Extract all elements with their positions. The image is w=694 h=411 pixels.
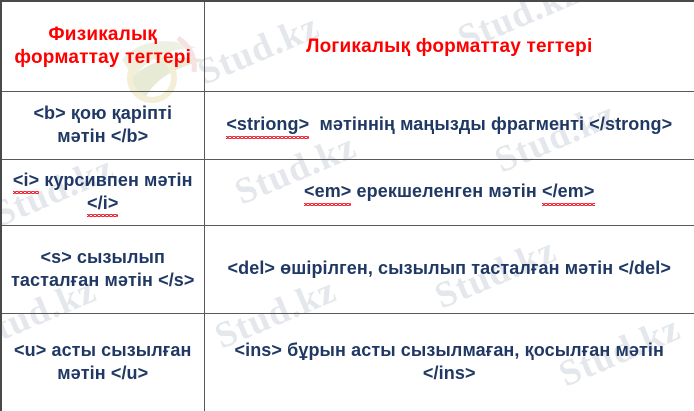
tag-close-u: </u> [111,363,148,383]
tag-close-b: </b> [111,126,148,146]
table-row: <b> қою қаріпті мәтін </b> <striong> мәт… [1,91,694,159]
tag-desc-s: сызылып тасталған мәтін [11,247,165,290]
cell-physical-i: <i> курсивпен мәтін </i> [1,159,204,225]
tag-open-em: <em> [304,180,351,203]
header-physical-tags: Физикалық форматтау тегтері [1,1,204,91]
tag-open-i: <i> [13,169,39,192]
tag-open-strong-misspelled: <striong> [226,113,309,136]
tag-desc-ins: бұрын асты сызылмаған, қосылған мәтін [287,340,664,360]
tag-open-del: <del> [228,258,276,278]
cell-logical-del: <del> өшірілген, сызылып тасталған мәтін… [204,225,694,313]
cell-physical-b: <b> қою қаріпті мәтін </b> [1,91,204,159]
tag-close-em: </em> [542,180,595,203]
tag-open-u: <u> [14,340,46,360]
tag-open-s: <s> [40,247,71,267]
tag-close-i: </i> [87,192,118,215]
tag-close-s: </s> [158,270,194,290]
table-row: <i> курсивпен мәтін </i> <em> ерекшеленг… [1,159,694,225]
tag-close-del: </del> [618,258,671,278]
cell-logical-ins: <ins> бұрын асты сызылмаған, қосылған мә… [204,313,694,411]
tag-close-ins: </ins> [423,363,476,383]
cell-physical-u: <u> асты сызылған мәтін </u> [1,313,204,411]
cell-logical-strong: <striong> мәтіннің маңызды фрагменті </s… [204,91,694,159]
tag-desc-em: ерекшеленген мәтін [357,181,537,201]
cell-logical-em: <em> ерекшеленген мәтін </em> [204,159,694,225]
table-header-row: Физикалық форматтау тегтері Логикалық фо… [1,1,694,91]
table-row: <s> сызылып тасталған мәтін </s> <del> ө… [1,225,694,313]
table-row: <u> асты сызылған мәтін </u> <ins> бұрын… [1,313,694,411]
slide-canvas: Stud.kz Stud.kz Stud.kz Stud.kz Stud.kz … [0,0,694,411]
tag-close-strong: </strong> [589,114,672,134]
cell-physical-s: <s> сызылып тасталған мәтін </s> [1,225,204,313]
tag-desc-i: курсивпен мәтін [44,170,192,190]
tag-open-ins: <ins> [234,340,282,360]
header-logical-tags: Логикалық форматтау тегтері [204,1,694,91]
tag-desc-strong: мәтіннің маңызды фрагменті [319,114,584,134]
tag-desc-del: өшірілген, сызылып тасталған мәтін [280,258,613,278]
tag-open-b: <b> [33,103,65,123]
formatting-tags-table: Физикалық форматтау тегтері Логикалық фо… [0,0,694,411]
